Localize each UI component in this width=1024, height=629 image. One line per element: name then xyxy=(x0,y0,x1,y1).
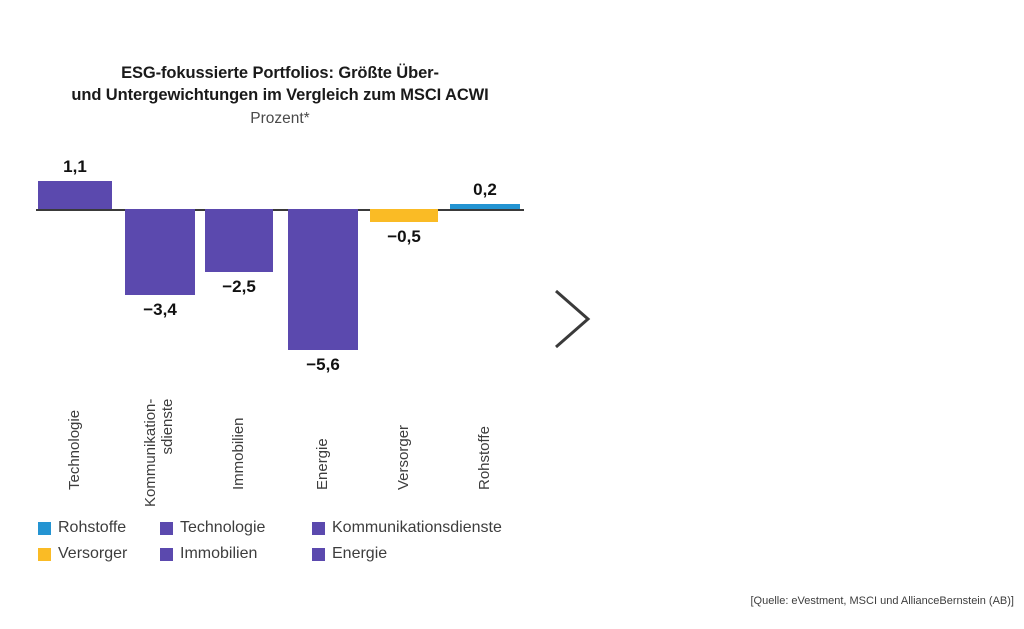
category-label-2-line-1: Kommunikation- xyxy=(142,399,159,507)
legend-swatch-icon xyxy=(160,522,173,535)
bar-legend-item-1[interactable]: Rohstoffe xyxy=(38,515,160,541)
bar-legend-label-6: Energie xyxy=(332,545,387,563)
bar-chart-subtitle: Prozent* xyxy=(10,108,550,130)
zero-axis-line xyxy=(36,209,524,211)
category-label-2-line-2: sdienste xyxy=(159,399,176,507)
pie-chart-panel: MSCI-ACWI-Unternehmen: Emissionsreduzier… xyxy=(560,0,1024,629)
bar-legend-label-1: Rohstoffe xyxy=(58,519,126,537)
bar-legend-item-2[interactable]: Technologie xyxy=(160,515,312,541)
bar-chart-plot-area: 1,1−3,4−2,5−5,6−0,50,2 xyxy=(0,165,560,355)
bar-6 xyxy=(450,204,520,209)
category-label-1: Technologie xyxy=(66,410,83,490)
legend-swatch-icon xyxy=(312,522,325,535)
bar-value-label-4: −5,6 xyxy=(288,355,358,375)
category-label-3-line-1: Immobilien xyxy=(230,417,247,490)
bar-legend-item-3[interactable]: Kommunikationsdienste xyxy=(312,515,532,541)
bar-4 xyxy=(288,209,358,350)
bar-value-label-6: 0,2 xyxy=(450,180,520,200)
bar-chart-panel: ESG-fokussierte Portfolios: Größte Über-… xyxy=(0,0,560,629)
bar-5 xyxy=(370,209,438,222)
legend-swatch-icon xyxy=(312,548,325,561)
bar-1 xyxy=(38,181,112,209)
bar-chart-title-line-2: und Untergewichtungen im Vergleich zum M… xyxy=(10,84,550,106)
bar-chart-legend: RohstoffeTechnologieKommunikationsdienst… xyxy=(38,515,538,567)
category-label-3: Immobilien xyxy=(230,417,247,490)
legend-swatch-icon xyxy=(38,548,51,561)
bar-3 xyxy=(205,209,273,272)
bar-2 xyxy=(125,209,195,295)
legend-swatch-icon xyxy=(160,548,173,561)
bar-chart-title-line-1: ESG-fokussierte Portfolios: Größte Über- xyxy=(10,62,550,84)
bar-value-label-1: 1,1 xyxy=(38,157,112,177)
category-label-5: Versorger xyxy=(395,425,412,490)
category-label-5-line-1: Versorger xyxy=(395,425,412,490)
category-label-6: Rohstoffe xyxy=(476,426,493,490)
category-label-4-line-1: Energie xyxy=(314,438,331,490)
bar-legend-label-5: Immobilien xyxy=(180,545,257,563)
bar-legend-item-4[interactable]: Versorger xyxy=(38,541,160,567)
category-label-2: Kommunikation-sdienste xyxy=(142,399,176,507)
bar-legend-item-5[interactable]: Immobilien xyxy=(160,541,312,567)
bar-legend-label-4: Versorger xyxy=(58,545,127,563)
bar-value-label-5: −0,5 xyxy=(370,227,438,247)
bar-value-label-2: −3,4 xyxy=(125,300,195,320)
bar-chart-title-block: ESG-fokussierte Portfolios: Größte Über-… xyxy=(10,62,550,130)
category-label-6-line-1: Rohstoffe xyxy=(476,426,493,490)
bar-legend-label-2: Technologie xyxy=(180,519,265,537)
category-label-1-line-1: Technologie xyxy=(66,410,83,490)
legend-swatch-icon xyxy=(38,522,51,535)
bar-legend-label-3: Kommunikationsdienste xyxy=(332,519,502,537)
bar-legend-item-6[interactable]: Energie xyxy=(312,541,532,567)
bar-value-label-3: −2,5 xyxy=(205,277,273,297)
category-label-4: Energie xyxy=(314,438,331,490)
source-note: [Quelle: eVestment, MSCI und AllianceBer… xyxy=(0,595,1014,607)
